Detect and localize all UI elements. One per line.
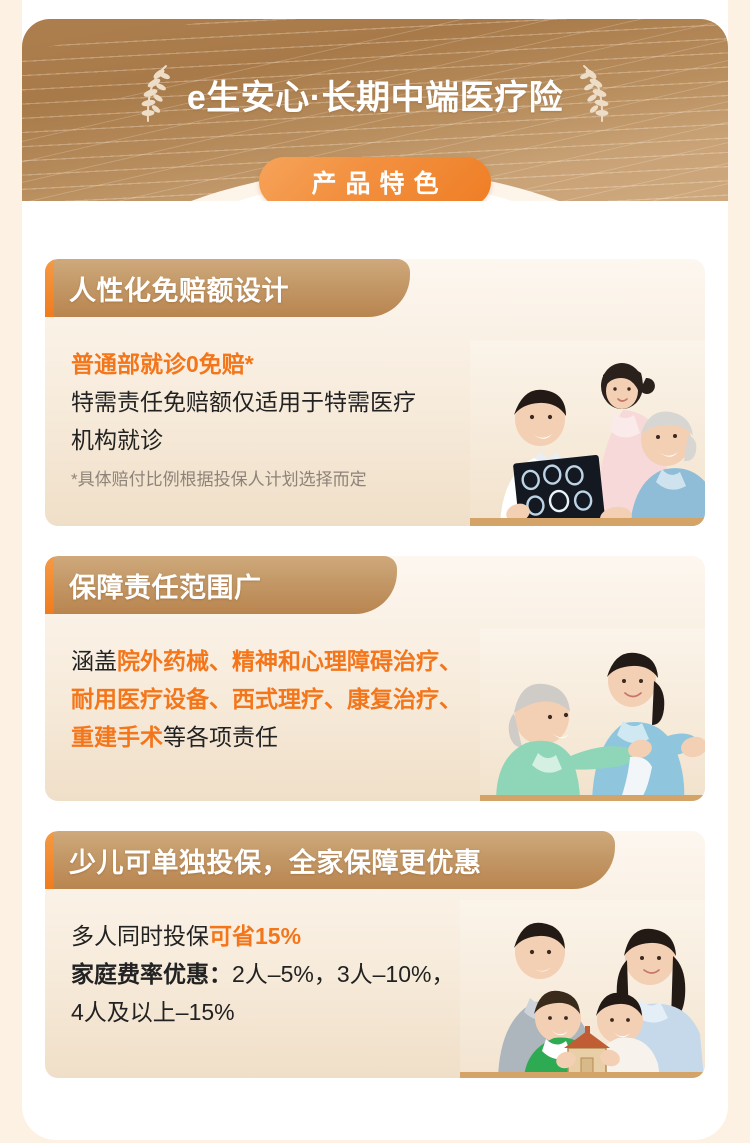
card-line: 机构就诊 xyxy=(71,421,531,459)
card-line-part: 重建手术 xyxy=(71,724,163,750)
banner-title-row: e生安心·长期中端医疗险 xyxy=(22,63,728,125)
card-heading-text: 人性化免赔额设计 xyxy=(69,269,289,308)
card-heading-text: 少儿可单独投保，全家保障更优惠 xyxy=(69,841,482,880)
laurel-branch-icon-left xyxy=(139,63,173,125)
card-line: 普通部就诊0免赔* xyxy=(71,345,531,383)
card-body: 普通部就诊0免赔* 特需责任免赔额仅适用于特需医疗 机构就诊 *具体赔付比例根据… xyxy=(71,345,531,493)
card-heading-ribbon: 人性化免赔额设计 xyxy=(45,259,410,317)
card-line-part: 院外药械、精神和心理障碍治疗、 xyxy=(117,648,462,674)
card-line-part: 涵盖 xyxy=(71,648,117,674)
product-feature-badge[interactable]: 产品特色 xyxy=(259,157,491,201)
page-title: e生安心·长期中端医疗险 xyxy=(187,70,563,119)
doctor-xray-consultation-photo xyxy=(470,341,705,526)
card-heading-ribbon: 少儿可单独投保，全家保障更优惠 xyxy=(45,831,615,889)
card-line-part: 4人及以上–15% xyxy=(71,999,235,1025)
nurse-elderly-rehab-photo xyxy=(480,629,705,801)
family-of-four-house-photo xyxy=(460,900,705,1078)
card-line-part: 可省15% xyxy=(209,923,301,949)
content-panel: e生安心·长期中端医疗险 xyxy=(22,0,728,1140)
feature-card-coverage: 保障责任范围广 涵盖院外药械、精神和心理障碍治疗、 耐用医疗设备、西式理疗、康复… xyxy=(45,556,705,801)
feature-card-family: 少儿可单独投保，全家保障更优惠 多人同时投保可省15% 家庭费率优惠：2人–5%… xyxy=(45,831,705,1078)
card-line: 涵盖院外药械、精神和心理障碍治疗、 xyxy=(71,642,531,680)
card-heading-ribbon: 保障责任范围广 xyxy=(45,556,397,614)
card-heading-text: 保障责任范围广 xyxy=(69,566,262,605)
product-feature-page: e生安心·长期中端医疗险 xyxy=(0,0,750,1143)
card-line: 耐用医疗设备、西式理疗、康复治疗、 xyxy=(71,680,531,718)
card-body: 涵盖院外药械、精神和心理障碍治疗、 耐用医疗设备、西式理疗、康复治疗、 重建手术… xyxy=(71,642,531,756)
card-line-part: 家庭费率优惠： xyxy=(71,961,232,987)
card-line-part: 等各项责任 xyxy=(163,724,278,750)
card-line: 特需责任免赔额仅适用于特需医疗 xyxy=(71,383,531,421)
header-banner: e生安心·长期中端医疗险 xyxy=(22,19,728,201)
feature-card-deductible: 人性化免赔额设计 普通部就诊0免赔* 特需责任免赔额仅适用于特需医疗 机构就诊 … xyxy=(45,259,705,526)
card-line-part: 2人–5%，3人–10%， xyxy=(232,961,454,987)
card-line: 重建手术等各项责任 xyxy=(71,718,531,756)
card-line-part: 耐用医疗设备、西式理疗、康复治疗、 xyxy=(71,686,462,712)
laurel-branch-icon-right xyxy=(577,63,611,125)
card-line-part: 多人同时投保 xyxy=(71,923,209,949)
product-feature-badge-label: 产品特色 xyxy=(302,164,447,200)
card-footnote: *具体赔付比例根据投保人计划选择而定 xyxy=(71,467,531,493)
